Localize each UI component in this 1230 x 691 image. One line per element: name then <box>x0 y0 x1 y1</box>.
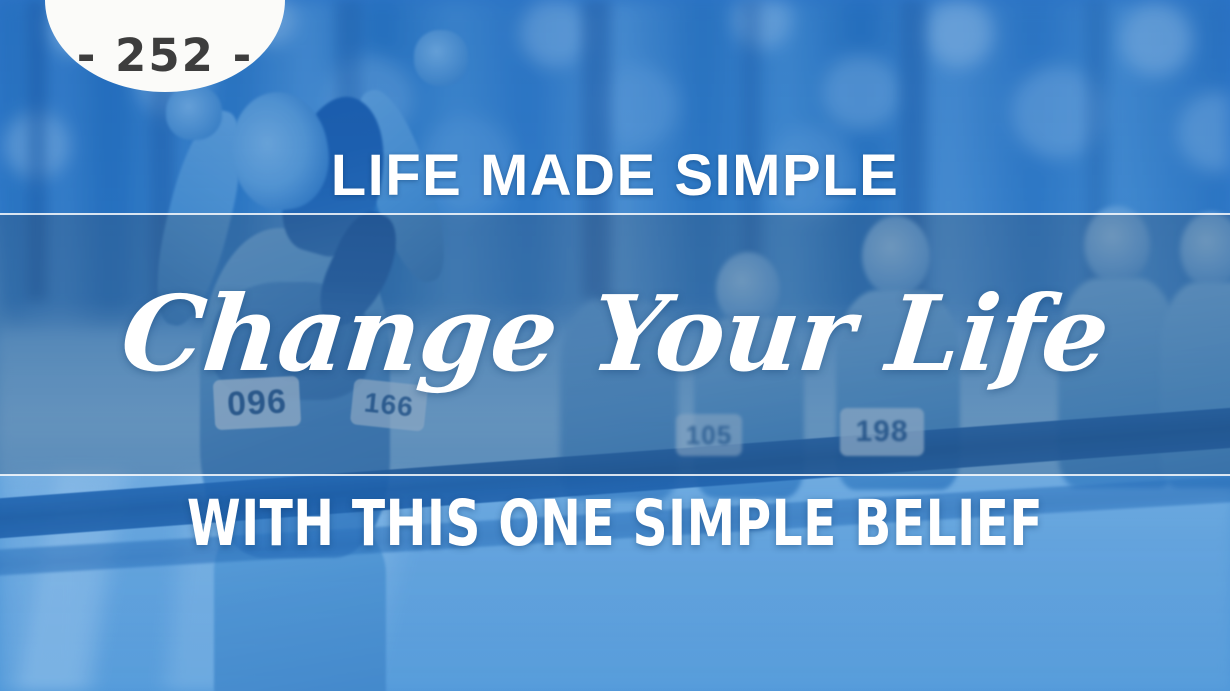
episode-subtitle: WITH THIS ONE SIMPLE BELIEF <box>86 487 1144 560</box>
episode-number-badge: - 252 - <box>45 0 285 92</box>
show-title: LIFE MADE SIMPLE <box>0 142 1230 209</box>
divider-line-top <box>0 213 1230 215</box>
divider-line-bottom <box>0 474 1230 476</box>
podcast-cover-art: 096 166 105 198 - 252 - LIFE MADE SIMPLE… <box>0 0 1230 691</box>
episode-title-script: Change Your Life <box>0 272 1230 395</box>
episode-number-label: - 252 - <box>77 33 254 78</box>
